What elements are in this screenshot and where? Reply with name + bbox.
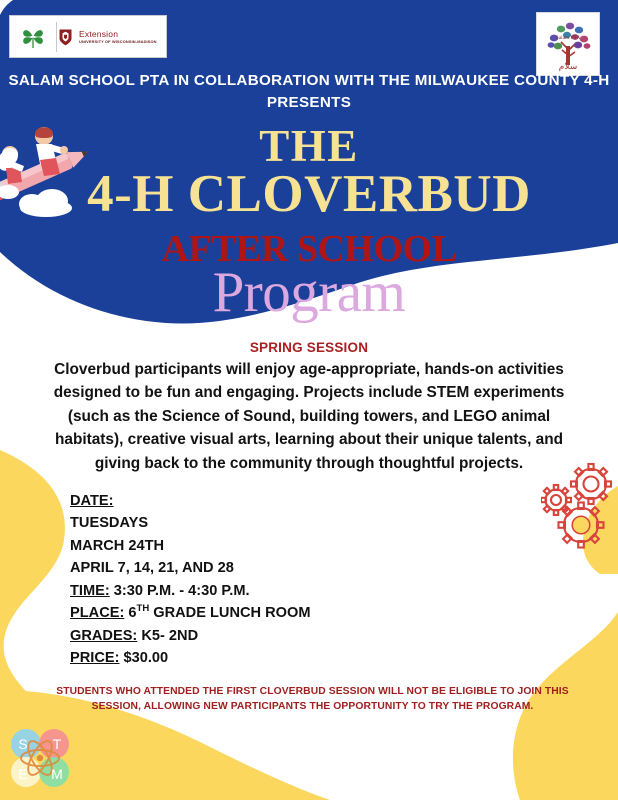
price-value: $30.00 <box>124 650 169 666</box>
salam-pta-logo: Salam PTA سلام <box>536 12 600 76</box>
spring-session-label: SPRING SESSION <box>0 340 618 355</box>
flyer-canvas: Extension UNIVERSITY OF WISCONSIN-MADISO… <box>0 0 618 800</box>
grades-value: K5- 2ND <box>141 628 198 644</box>
handprint-tree-icon: Salam PTA سلام <box>537 13 599 75</box>
stem-atom-badge-icon: S T E M <box>4 722 76 796</box>
event-details-block: DATE: TUESDAYS MARCH 24TH APRIL 7, 14, 2… <box>70 490 311 670</box>
place-label: PLACE: <box>70 605 124 621</box>
title-the: THE <box>0 124 618 169</box>
price-label: PRICE: <box>70 650 119 666</box>
detail-place: PLACE: 6TH GRADE LUNCH ROOM <box>70 602 311 624</box>
detail-time: TIME: 3:30 P.M. - 4:30 P.M. <box>70 580 311 602</box>
time-value: 3:30 P.M. - 4:30 P.M. <box>114 583 250 599</box>
place-value-number: 6 <box>128 605 136 621</box>
eligibility-notice: STUDENTS WHO ATTENDED THE FIRST CLOVERBU… <box>40 684 585 715</box>
title-main: 4-H CLOVERBUD <box>0 168 618 221</box>
detail-date-day: TUESDAYS <box>70 512 311 534</box>
extension-title: Extension <box>79 30 157 39</box>
stem-letter-s: S <box>18 736 27 752</box>
date-label: DATE: <box>70 493 114 509</box>
uw-crest-icon <box>57 28 74 46</box>
detail-date-april: APRIL 7, 14, 21, AND 28 <box>70 557 311 579</box>
time-label: TIME: <box>70 583 110 599</box>
stem-letter-t: T <box>53 736 62 752</box>
four-leaf-clover-icon <box>10 24 56 50</box>
extension-subtitle: UNIVERSITY OF WISCONSIN-MADISON <box>79 40 157 44</box>
presents-line: SALAM SCHOOL PTA IN COLLABORATION WITH T… <box>0 70 618 113</box>
grades-label: GRADES: <box>70 628 137 644</box>
date-day-value: TUESDAYS <box>70 515 148 531</box>
detail-grades: GRADES: K5- 2ND <box>70 625 311 647</box>
svg-text:Salam PTA: Salam PTA <box>556 35 581 41</box>
detail-price: PRICE: $30.00 <box>70 647 311 669</box>
date-april-value: APRIL 7, 14, 21, AND 28 <box>70 560 234 576</box>
place-value-room: GRADE LUNCH ROOM <box>153 605 310 621</box>
stem-letter-e: E <box>18 766 27 782</box>
uw-extension-logo: Extension UNIVERSITY OF WISCONSIN-MADISO… <box>9 15 167 58</box>
extension-wordmark: Extension UNIVERSITY OF WISCONSIN-MADISO… <box>74 30 157 44</box>
place-value-ordinal: TH <box>137 603 150 614</box>
title-program: Program <box>0 264 618 321</box>
detail-date-label: DATE: <box>70 490 311 512</box>
body-paragraph: Cloverbud participants will enjoy age-ap… <box>34 358 584 475</box>
date-march-value: MARCH 24TH <box>70 538 164 554</box>
gears-icon <box>541 462 617 550</box>
stem-letter-m: M <box>51 766 63 782</box>
detail-date-march: MARCH 24TH <box>70 535 311 557</box>
